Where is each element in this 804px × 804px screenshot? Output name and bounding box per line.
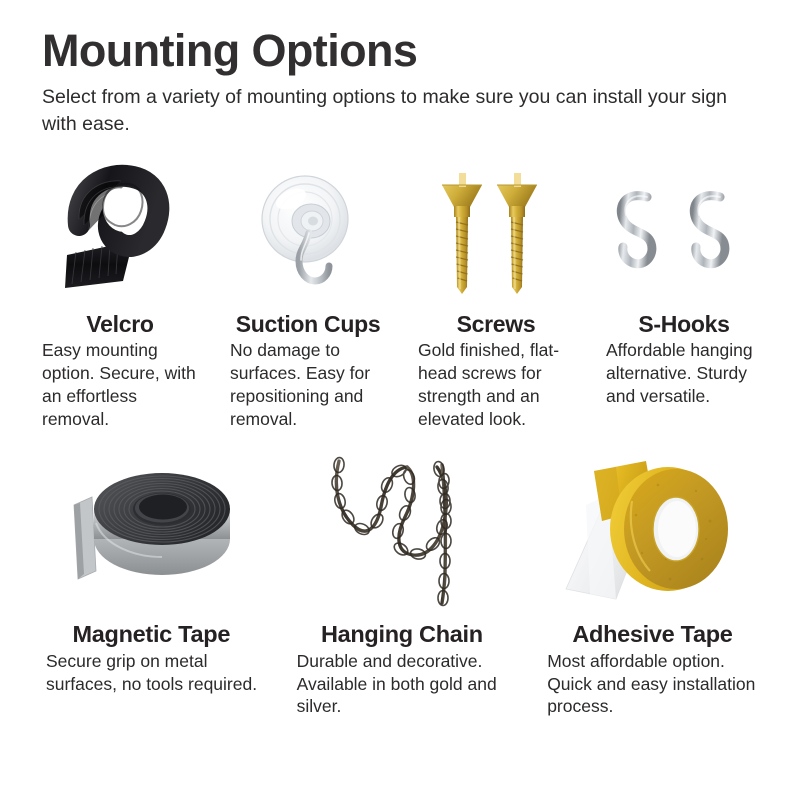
- option-description: No damage to surfaces. Easy for repositi…: [220, 339, 396, 430]
- page-title: Mounting Options: [42, 28, 762, 75]
- option-title: Screws: [408, 312, 584, 337]
- header: Mounting Options Select from a variety o…: [42, 28, 762, 139]
- suction-cup-art: [220, 160, 396, 305]
- option-title: Velcro: [32, 312, 208, 337]
- s-hooks-art: [596, 160, 772, 305]
- option-description: Easy mounting option. Secure, with an ef…: [32, 339, 208, 430]
- screws-art: [408, 160, 584, 305]
- option-title: Suction Cups: [220, 312, 396, 337]
- option-card-hanging-chain: Hanging Chain Durable and decorative. Av…: [277, 450, 528, 718]
- option-description: Most affordable option. Quick and easy i…: [533, 650, 772, 718]
- option-title: S-Hooks: [596, 312, 772, 337]
- magnetic-tape-art: [32, 450, 271, 610]
- page-subtitle: Select from a variety of mounting option…: [42, 84, 742, 139]
- option-card-magnetic-tape: Magnetic Tape Secure grip on metal surfa…: [26, 450, 277, 718]
- hanging-chain-icon: [309, 445, 494, 615]
- velcro-art: [32, 160, 208, 305]
- option-description: Secure grip on metal surfaces, no tools …: [32, 650, 271, 696]
- options-row-1: Velcro Easy mounting option. Secure, wit…: [26, 160, 778, 430]
- flat-head-screws-icon: [426, 163, 566, 303]
- option-title: Magnetic Tape: [32, 622, 271, 648]
- option-description: Affordable hanging alternative. Sturdy a…: [596, 339, 772, 407]
- velcro-strip-icon: [45, 163, 195, 303]
- option-card-suction-cups: Suction Cups No damage to surfaces. Easy…: [214, 160, 402, 430]
- option-description: Durable and decorative. Available in bot…: [283, 650, 522, 718]
- option-description: Gold finished, flat-head screws for stre…: [408, 339, 584, 430]
- mounting-options-infographic: Mounting Options Select from a variety o…: [0, 0, 804, 804]
- option-card-s-hooks: S-Hooks Affordable hanging alternative. …: [590, 160, 778, 430]
- options-row-2: Magnetic Tape Secure grip on metal surfa…: [26, 450, 778, 718]
- option-card-screws: Screws Gold finished, flat-head screws f…: [402, 160, 590, 430]
- option-card-velcro: Velcro Easy mounting option. Secure, wit…: [26, 160, 214, 430]
- option-card-adhesive-tape: Adhesive Tape Most affordable option. Qu…: [527, 450, 778, 718]
- hanging-chain-art: [283, 450, 522, 610]
- adhesive-tape-roll-icon: [550, 449, 755, 611]
- option-title: Hanging Chain: [283, 622, 522, 648]
- suction-cup-hook-icon: [233, 163, 383, 303]
- s-hooks-icon: [609, 163, 759, 303]
- option-title: Adhesive Tape: [533, 622, 772, 648]
- adhesive-tape-art: [533, 450, 772, 610]
- magnetic-tape-roll-icon: [44, 453, 259, 608]
